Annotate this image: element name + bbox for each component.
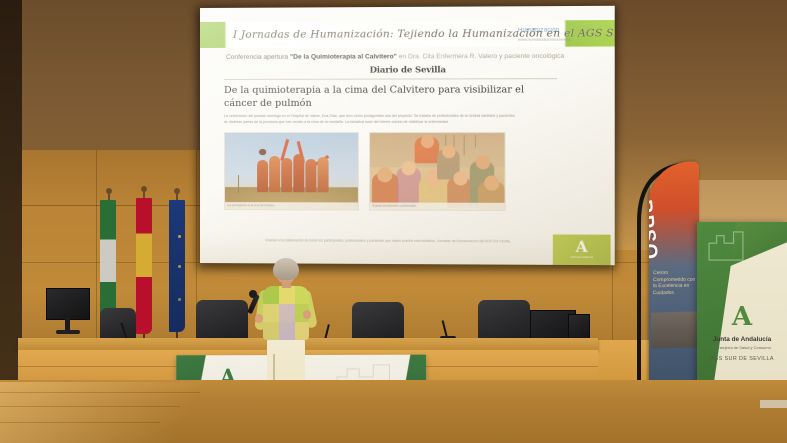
european-union-flag <box>169 200 185 332</box>
news-clipping: Diario de Sevilla De la quimioterapia a … <box>224 65 594 125</box>
office-chair <box>100 308 136 342</box>
group-selfie-photo: El grupo de pacientes y profesionales. <box>369 132 506 211</box>
divider <box>224 78 557 80</box>
trail-marker <box>238 175 239 193</box>
photo-caption: Los participantes en la cima del Calvite… <box>225 202 358 209</box>
logo-caption: Junta de Andalucía <box>570 256 593 259</box>
rollup-unit: AGS SUR DE SEVILLA <box>697 356 787 362</box>
spain-flag <box>136 198 152 334</box>
summit-photo: Los participantes en la cima del Calvite… <box>224 132 359 211</box>
slide-photo-group: Los participantes en la cima del Calvite… <box>224 132 506 211</box>
rollup-organization: Junta de Andalucía <box>697 336 787 343</box>
rollup-department: Consejería de Salud y Consumo <box>697 345 787 350</box>
conference-photo: I Jornadas de Humanización: Tejiendo la … <box>0 0 787 443</box>
slide-subtitle-prefix: Conferencia apertura <box>226 54 288 61</box>
eu-star <box>178 235 181 238</box>
monitor-screen <box>46 288 90 320</box>
presentation-slide: I Jornadas de Humanización: Tejiendo la … <box>200 6 615 265</box>
bpso-subtitle: Centro Comprometido con la Excelencia en… <box>653 270 697 296</box>
news-body-text: La celebración del pasado domingo en el … <box>224 114 518 125</box>
logo-letter-a: A <box>576 241 588 255</box>
slide-subtitle: Conferencia apertura "De la Quimioterapi… <box>226 53 615 61</box>
slide-footer-text: Gracias a la colaboración de todos los p… <box>236 238 540 245</box>
speaker-hand-right <box>303 310 311 319</box>
eu-star <box>178 298 181 301</box>
microphone-head <box>249 290 257 298</box>
monitor-left <box>46 288 90 320</box>
news-headline: De la quimioterapia a la cima del Calvit… <box>224 84 528 110</box>
photo-caption: El grupo de pacientes y profesionales. <box>370 202 505 209</box>
projection-screen: I Jornadas de Humanización: Tejiendo la … <box>200 6 615 265</box>
newspaper-name: Diario de Sevilla <box>224 65 594 76</box>
slide-logo-mark: Humanización <box>518 28 580 35</box>
wall-panel-joint <box>96 150 97 350</box>
eu-star <box>178 265 181 268</box>
junta-andalucia-logo: A Junta de Andalucía <box>553 234 611 265</box>
slide-logo-url: www.humanizacionsursevilla <box>518 36 580 41</box>
summit-group <box>257 154 328 192</box>
slide-logo: Humanización www.humanizacionsursevilla <box>518 23 580 46</box>
speaker-hair <box>273 258 299 280</box>
junta-logo-letter: A <box>697 306 787 329</box>
baseboard <box>760 400 787 408</box>
bpso-acronym: BPSO <box>649 198 661 261</box>
slide-subtitle-suffix: en Dra. Cita Enfermera R. Valero y pacie… <box>399 53 565 61</box>
banner-photo <box>651 311 697 348</box>
office-chair <box>196 300 248 342</box>
slide-subtitle-quote: "De la Quimioterapia al Calvitero" <box>290 53 397 60</box>
monitor-base <box>56 330 80 334</box>
hospital-building-glyph <box>707 230 745 262</box>
